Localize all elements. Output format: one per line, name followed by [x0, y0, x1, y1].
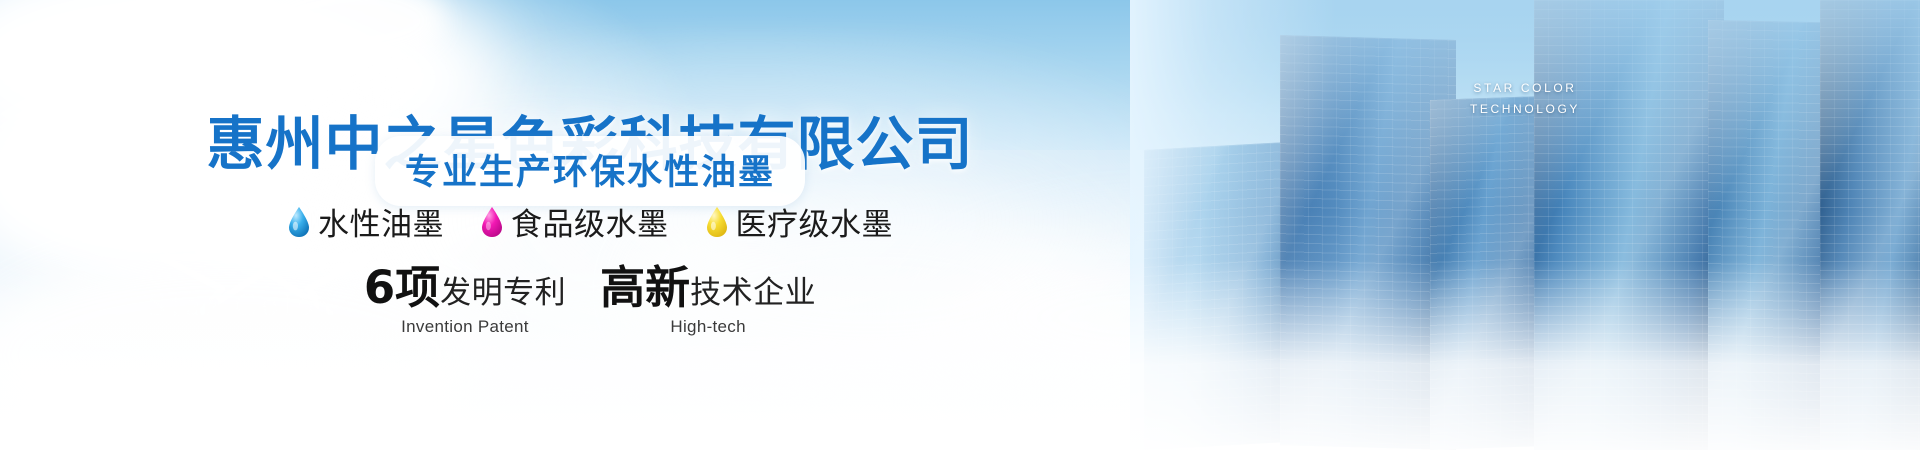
badge-cn-text: 高新技术企业: [600, 265, 816, 312]
feature-item-water-ink: 水性油墨: [287, 199, 444, 244]
corner-brand-logo: STAR COLOR TECHNOLOGY: [1470, 78, 1580, 120]
subtitle-pill: 专业生产环保水性油墨: [375, 136, 805, 206]
water-drop-icon: [480, 206, 504, 238]
feature-item-medical-grade-ink: 医疗级水墨: [705, 199, 894, 244]
badge-high-tech: 高新技术企业 High-tech: [600, 265, 816, 337]
badge-rest: 发明专利: [440, 275, 566, 311]
corner-logo-line1: STAR COLOR: [1470, 78, 1580, 99]
feature-label: 食品级水墨: [511, 199, 669, 244]
credential-badges: 6项发明专利 Invention Patent 高新技术企业 High-tech: [0, 265, 1180, 337]
feature-label: 医疗级水墨: [736, 199, 894, 244]
banner-content: 惠州中之星色彩科技有限公司 专业生产环保水性油墨 水性油墨: [0, 0, 1180, 450]
badge-invention-patent: 6项发明专利 Invention Patent: [364, 265, 566, 337]
subtitle-row: 专业生产环保水性油墨: [0, 136, 1180, 206]
feature-item-food-grade-ink: 食品级水墨: [480, 199, 669, 244]
water-drop-icon: [705, 206, 729, 238]
corner-logo-line2: TECHNOLOGY: [1470, 99, 1580, 120]
badge-highlight: 高新: [600, 261, 690, 314]
badge-en-text: Invention Patent: [401, 317, 529, 337]
water-drop-icon: [287, 206, 311, 238]
feature-label: 水性油墨: [318, 199, 444, 244]
feature-list: 水性油墨 食品级水墨: [0, 199, 1180, 244]
badge-en-text: High-tech: [670, 317, 745, 337]
promo-banner: Star Color STAR COLOR TECHNOLOGY 惠州中之星色彩…: [0, 0, 1920, 450]
badge-cn-text: 6项发明专利: [364, 265, 566, 312]
badge-rest: 技术企业: [690, 275, 816, 311]
badge-highlight: 6项: [364, 261, 440, 314]
